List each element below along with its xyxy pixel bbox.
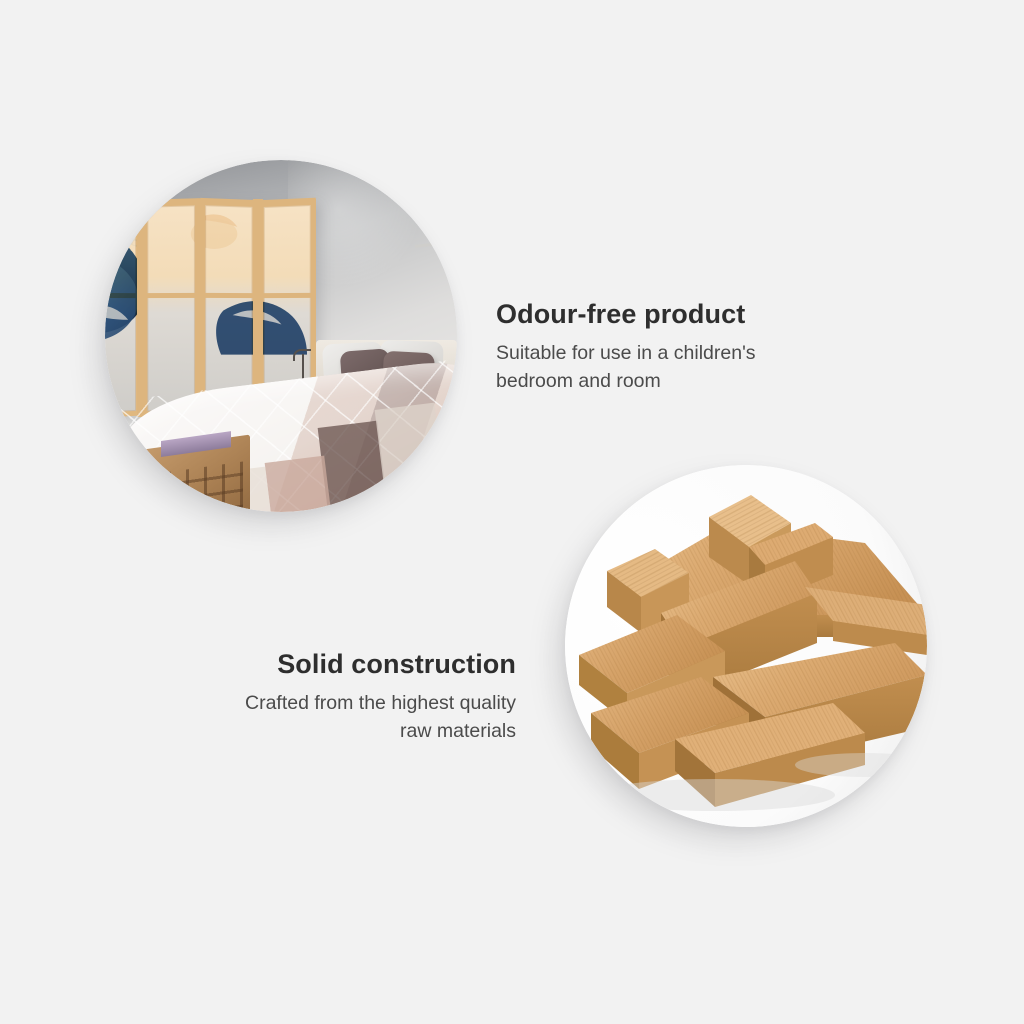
feature-description: Crafted from the highest quality raw mat…	[156, 690, 516, 745]
feature-description: Suitable for use in a children's bedroom…	[496, 340, 836, 395]
screen-panel	[105, 197, 141, 418]
quilt-patch	[265, 456, 336, 512]
infographic-canvas: Odour-free product Suitable for use in a…	[0, 0, 1024, 1024]
wood-planks-illustration	[565, 465, 927, 827]
bedroom-scene	[105, 160, 457, 512]
wall-moulding	[415, 200, 450, 248]
nightstand-weave	[150, 461, 243, 512]
lumber-photo	[565, 465, 927, 827]
quilt-patch	[374, 403, 445, 501]
feature-text-solid-construction: Solid construction Crafted from the high…	[156, 648, 516, 746]
feature-image-bedroom	[105, 160, 457, 512]
feature-title: Odour-free product	[496, 298, 836, 330]
screen-panel	[142, 198, 200, 418]
feature-text-odour-free: Odour-free product Suitable for use in a…	[496, 298, 836, 396]
lumber-scene	[565, 465, 927, 827]
feature-title: Solid construction	[156, 648, 516, 680]
bedroom-photo	[105, 160, 457, 512]
feature-image-lumber	[565, 465, 927, 827]
